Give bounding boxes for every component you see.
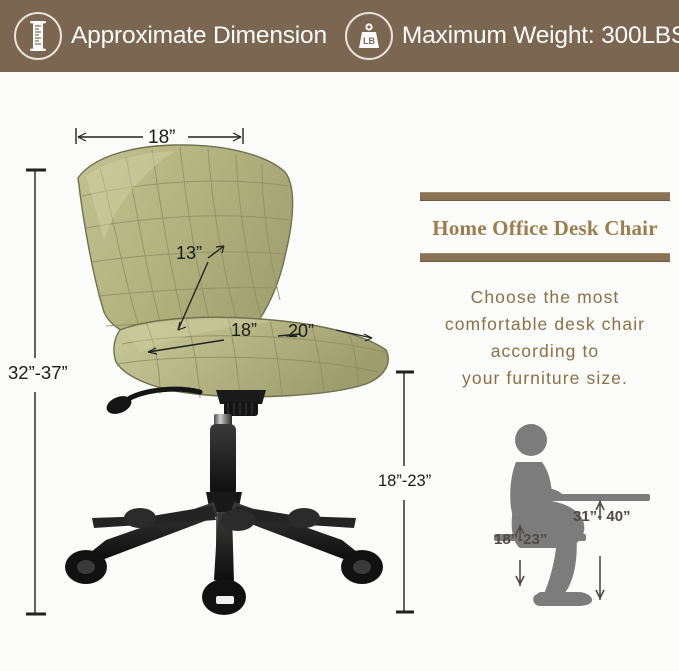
header-item-weight: LB Maximum Weight: 300LBS: [345, 12, 679, 60]
chair-base: [65, 492, 383, 615]
dimension-seat-width: 18”: [231, 320, 257, 341]
panel-rule-bottom: [420, 253, 670, 262]
header-bar: Approximate Dimension LB Maximum Weight:…: [0, 0, 679, 72]
dimension-seat-height: 18”-23”: [378, 472, 431, 491]
dimension-backrest-height: 13”: [176, 243, 202, 264]
panel-title: Home Office Desk Chair: [420, 216, 670, 241]
person-dimension-desk-height: 31”- 40”: [573, 508, 631, 525]
person-dimension-seat-height: 18”-23”: [494, 531, 547, 548]
dimension-seat-depth: 20”: [288, 321, 314, 342]
panel-body-line-2: comfortable desk chair: [420, 311, 670, 338]
panel-body-line-4: your furniture size.: [420, 365, 670, 392]
dimension-overall-height: 32”-37”: [8, 362, 68, 384]
infographic-canvas: Approximate Dimension LB Maximum Weight:…: [0, 0, 679, 671]
header-label-dimension: Approximate Dimension: [71, 22, 327, 50]
panel-rule-top: [420, 192, 670, 201]
dimension-top-width: 18”: [148, 127, 175, 149]
weight-icon: LB: [345, 12, 393, 60]
ruler-icon: [14, 12, 62, 60]
info-panel: Home Office Desk Chair Choose the most c…: [420, 192, 670, 392]
panel-body-line-1: Choose the most: [420, 284, 670, 311]
header-label-weight: Maximum Weight: 300LBS: [402, 22, 679, 50]
svg-text:LB: LB: [363, 36, 375, 46]
chair-cylinder: [104, 389, 266, 556]
header-item-dimension: Approximate Dimension: [14, 12, 327, 60]
panel-body-line-3: according to: [420, 338, 670, 365]
panel-body: Choose the most comfortable desk chair a…: [420, 284, 670, 392]
dimension-lines: [26, 128, 414, 614]
